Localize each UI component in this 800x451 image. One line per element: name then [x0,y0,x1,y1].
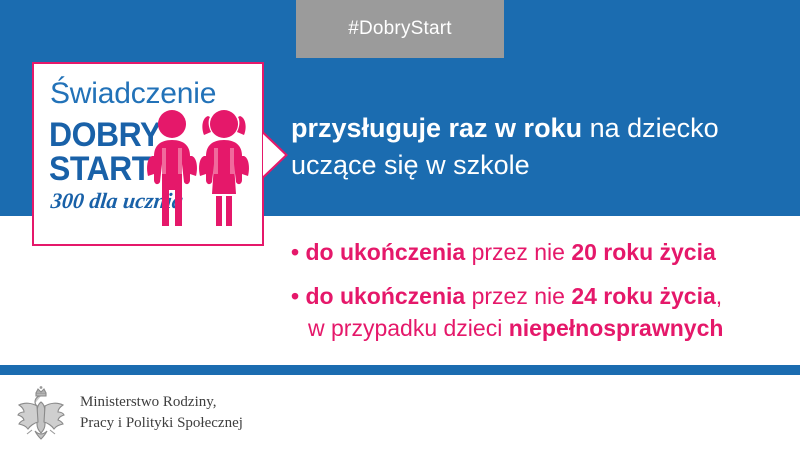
bullet-regular-1: przez nie [465,283,571,309]
bullet-marker: • [291,283,299,309]
dobry-start-logo-card: Świadczenie DOBRY START 300 dla ucznia [32,62,264,246]
bullet-sub-line: w przypadku dzieci niepełnosprawnych [304,312,791,344]
bullet-regular-1: przez nie [465,239,571,265]
polish-eagle-emblem-icon [10,383,72,445]
bullet-regular-2: , [716,283,722,309]
hashtag-label: #DobryStart [348,18,452,40]
logo-start-text: START [49,150,151,189]
bullet-marker: • [291,239,299,265]
footer: Ministerstwo Rodziny, Pracy i Polityki S… [0,375,800,451]
schoolchildren-icon [142,108,254,228]
bullet-bold-1: do ukończenia [305,239,465,265]
bullet-bold-1: do ukończenia [305,283,465,309]
bullet-bold-2: 20 roku życia [571,239,715,265]
list-item: • do ukończenia przez nie 20 roku życia [291,236,791,268]
bullet-sub-regular: w przypadku dzieci [308,315,509,341]
hashtag-chip: #DobryStart [296,0,504,58]
bullet-sub-bold: niepełnosprawnych [509,315,724,341]
poster-root: #DobryStart Świadczenie DOBRY START 300 … [0,0,800,451]
main-statement-bold: przysługuje raz w roku [291,113,582,143]
main-statement: przysługuje raz w roku na dziecko uczące… [291,110,781,184]
ministry-name: Ministerstwo Rodziny, Pracy i Polityki S… [80,392,243,434]
bubble-tail [263,134,285,176]
footer-divider [0,365,800,375]
logo-inner: Świadczenie DOBRY START 300 dla ucznia [34,64,262,244]
list-item: • do ukończenia przez nie 24 roku życia,… [291,280,791,344]
conditions-list: • do ukończenia przez nie 20 roku życia … [291,236,791,356]
logo-swiadczenie-text: Świadczenie [50,77,216,111]
bullet-bold-2: 24 roku życia [571,283,715,309]
